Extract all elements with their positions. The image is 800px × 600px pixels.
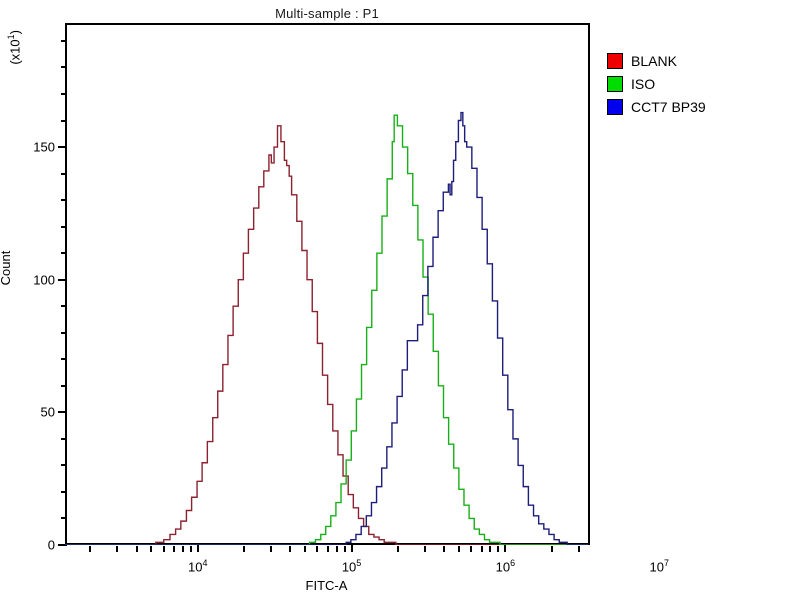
legend-item-cct7-bp39[interactable]: CCT7 BP39 xyxy=(607,96,795,118)
y-axis-tick-minor xyxy=(61,93,67,95)
x-axis-tick-minor xyxy=(443,546,445,552)
legend-label: BLANK xyxy=(631,54,677,68)
x-axis-tick-minor xyxy=(190,546,192,552)
y-axis-tick-major xyxy=(58,544,67,546)
x-axis-tick-label: 106 xyxy=(496,559,515,573)
plot-frame-top xyxy=(65,23,590,25)
y-axis-tick-label: 0 xyxy=(48,539,55,552)
x-axis-tick-minor xyxy=(289,546,291,552)
x-axis-tick-minor xyxy=(424,546,426,552)
x-axis-tick-minor xyxy=(116,546,118,552)
x-axis-tick-label: 105 xyxy=(342,559,361,573)
x-axis-tick-minor xyxy=(327,546,329,552)
y-axis-tick-major xyxy=(58,146,67,148)
x-axis-tick-minor xyxy=(470,546,472,552)
y-axis-tick-label: 50 xyxy=(41,406,55,419)
x-axis-tick-minor xyxy=(397,546,399,552)
legend-swatch-icon xyxy=(607,99,623,115)
x-axis-tick-major xyxy=(504,543,506,552)
legend-item-blank[interactable]: BLANK xyxy=(607,50,795,72)
x-axis-tick-minor xyxy=(173,546,175,552)
x-axis-tick-minor xyxy=(182,546,184,552)
x-axis-tick-minor xyxy=(150,546,152,552)
plot-frame-right xyxy=(588,23,590,545)
legend: BLANKISOCCT7 BP39 xyxy=(607,50,795,119)
y-axis-tick-minor xyxy=(61,358,67,360)
flow-cytometry-histogram: Multi-sample : P1 (x101) Count 050100150… xyxy=(0,0,800,600)
legend-swatch-icon xyxy=(607,53,623,69)
legend-label: CCT7 BP39 xyxy=(631,100,706,114)
x-axis-tick-minor xyxy=(344,546,346,552)
y-axis-tick-major xyxy=(58,411,67,413)
y-axis-tick-minor xyxy=(61,252,67,254)
y-axis-tick-minor xyxy=(61,438,67,440)
y-axis-tick-major xyxy=(58,279,67,281)
y-axis-multiplier-label: (x101) xyxy=(6,30,22,65)
legend-swatch-icon xyxy=(607,76,623,92)
y-axis-tick-minor xyxy=(61,332,67,334)
y-axis-tick-minor xyxy=(61,491,67,493)
chart-title: Multi-sample : P1 xyxy=(65,6,589,21)
x-axis-tick-minor xyxy=(458,546,460,552)
x-axis-tick-major xyxy=(197,543,199,552)
y-axis-tick-minor xyxy=(61,464,67,466)
x-axis-tick-minor xyxy=(497,546,499,552)
x-axis-tick-minor xyxy=(136,546,138,552)
y-axis-tick-minor xyxy=(61,199,67,201)
y-axis-tick-minor xyxy=(61,40,67,42)
x-axis-tick-minor xyxy=(163,546,165,552)
x-axis-tick-minor xyxy=(336,546,338,552)
y-axis-tick-minor xyxy=(61,517,67,519)
y-axis-tick-minor xyxy=(61,66,67,68)
legend-item-iso[interactable]: ISO xyxy=(607,73,795,95)
x-axis-tick-minor xyxy=(551,546,553,552)
x-axis-tick-label: 107 xyxy=(649,559,668,573)
x-axis-tick-minor xyxy=(243,546,245,552)
x-axis-tick-minor xyxy=(578,546,580,552)
x-axis-tick-minor xyxy=(316,546,318,552)
y-axis-tick-label: 150 xyxy=(33,141,55,154)
x-axis-tick-minor xyxy=(89,546,91,552)
y-axis-title: Count xyxy=(0,251,13,286)
y-axis-tick-minor xyxy=(61,305,67,307)
y-axis-tick-minor xyxy=(61,385,67,387)
plot-area: 050100150104105106107 xyxy=(65,25,588,545)
x-axis-tick-label: 104 xyxy=(188,559,207,573)
x-axis-tick-minor xyxy=(489,546,491,552)
y-axis-tick-minor xyxy=(61,120,67,122)
legend-label: ISO xyxy=(631,77,655,91)
x-axis-tick-minor xyxy=(304,546,306,552)
x-axis-tick-minor xyxy=(481,546,483,552)
y-axis-tick-label: 100 xyxy=(33,273,55,286)
x-axis-tick-minor xyxy=(270,546,272,552)
y-axis-tick-minor xyxy=(61,173,67,175)
x-axis-title: FITC-A xyxy=(65,578,588,593)
y-axis-tick-minor xyxy=(61,226,67,228)
x-axis-tick-major xyxy=(351,543,353,552)
